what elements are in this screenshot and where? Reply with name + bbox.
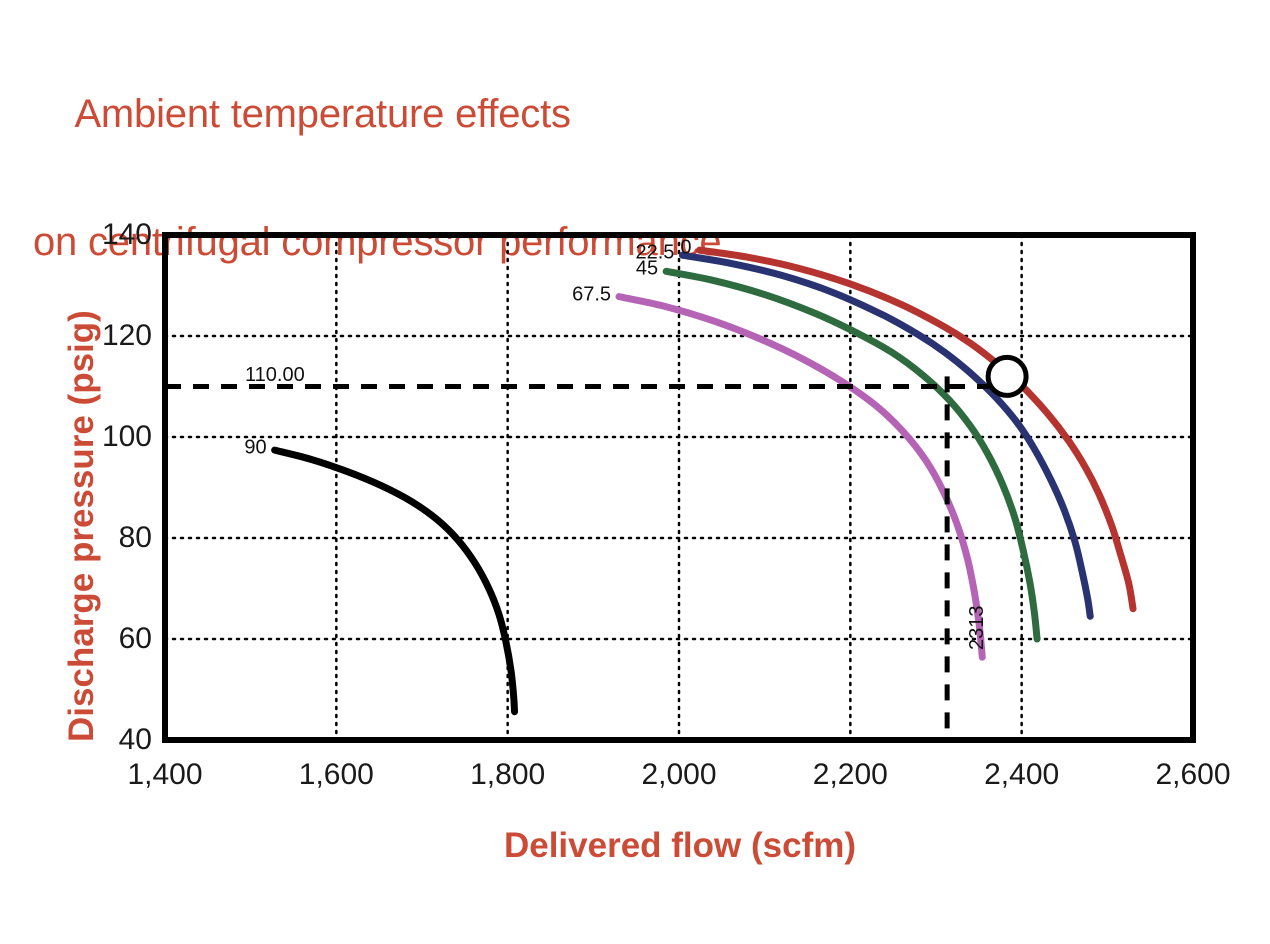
curve-label-90: 90 bbox=[244, 437, 266, 460]
annotation-lines bbox=[165, 357, 1026, 740]
data-curves bbox=[275, 250, 1133, 712]
curve-label-45: 45 bbox=[636, 258, 658, 281]
operating-point-marker bbox=[988, 357, 1026, 395]
curve-label-0: 0 bbox=[680, 237, 691, 260]
chart-plot-area bbox=[0, 0, 1270, 944]
curve-90 bbox=[275, 450, 515, 712]
curve-67-5 bbox=[619, 297, 982, 658]
chart-page: Ambient temperature effects on centrifug… bbox=[0, 0, 1270, 944]
horizontal-line-label: 110.00 bbox=[245, 364, 305, 387]
curve-0 bbox=[700, 250, 1133, 609]
vertical-line-label: 2313 bbox=[966, 606, 989, 651]
curve-label-67-5: 67.5 bbox=[572, 283, 611, 306]
